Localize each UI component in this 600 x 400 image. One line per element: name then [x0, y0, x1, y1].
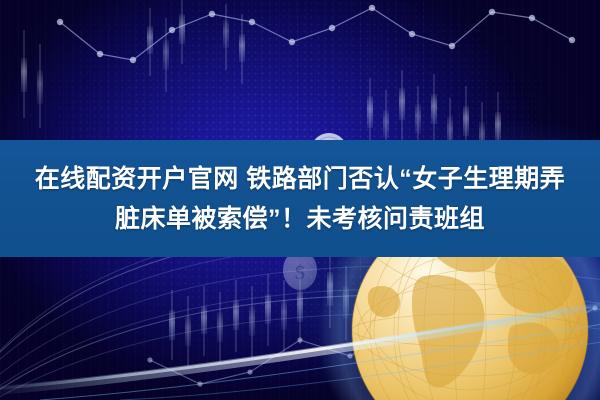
light-streak: [0, 298, 600, 400]
cover-image: $ $: [0, 0, 600, 400]
headline-banner: 在线配资开户官网 铁路部门否认“女子生理期弄 脏床单被索偿”！未考核问责班组: [0, 140, 600, 257]
line-chart-upper: [57, 5, 575, 63]
svg-text:$: $: [295, 262, 305, 284]
headline-line-2: 脏床单被索偿”！未考核问责班组: [115, 199, 485, 239]
headline-line-1: 在线配资开户官网 铁路部门否认“女子生理期弄: [35, 159, 565, 199]
line-chart-lower: [147, 305, 597, 386]
